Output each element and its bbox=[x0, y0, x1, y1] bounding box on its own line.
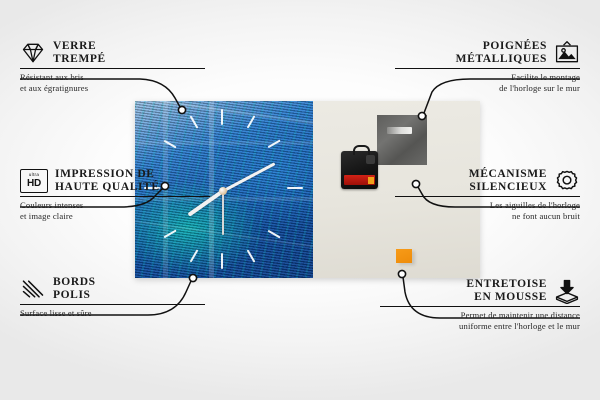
feature-title-line2: SILENCIEUX bbox=[395, 181, 547, 194]
feature-sub-line2: et aux égratignures bbox=[20, 83, 205, 94]
feature-title-line1: MÉCANISME bbox=[395, 168, 547, 181]
feature-title-line2: POLIS bbox=[53, 289, 96, 302]
feature-sub-line1: Couleurs intenses bbox=[20, 200, 210, 211]
metal-hanger-plate bbox=[377, 115, 427, 165]
feature-verre-trempe: VERRE TREMPÉ Résistant aux bris et aux é… bbox=[20, 40, 205, 93]
gear-icon bbox=[554, 168, 580, 194]
feature-poignees-metalliques: POIGNÉES MÉTALLIQUES Facilite le montage… bbox=[395, 40, 580, 93]
mechanism-dial bbox=[366, 155, 375, 164]
feature-title-line1: IMPRESSION DE bbox=[55, 168, 160, 181]
clock-second-hand bbox=[222, 191, 224, 235]
feature-sub-line1: Permet de maintenir une distance bbox=[380, 310, 580, 321]
battery bbox=[344, 175, 375, 185]
ultra-hd-icon: ultra HD bbox=[20, 169, 48, 193]
diamond-icon bbox=[20, 40, 46, 66]
clock-tick bbox=[287, 187, 303, 189]
clock-mechanism bbox=[341, 151, 378, 189]
infographic-canvas: VERRE TREMPÉ Résistant aux bris et aux é… bbox=[0, 0, 600, 400]
feature-title-line1: POIGNÉES bbox=[395, 40, 547, 53]
feature-sub-line2: ne font aucun bruit bbox=[395, 211, 580, 222]
ultra-hd-icon-main: HD bbox=[27, 179, 41, 189]
feature-title-line2: TREMPÉ bbox=[53, 53, 106, 66]
clock-tick bbox=[190, 249, 199, 262]
feature-sub-line2: uniforme entre l'horloge et le mur bbox=[380, 321, 580, 332]
feature-title-line1: VERRE bbox=[53, 40, 106, 53]
clock-tick bbox=[221, 253, 223, 269]
feature-title-line2: MÉTALLIQUES bbox=[395, 53, 547, 66]
clock-tick bbox=[268, 229, 281, 238]
feature-title-line2: EN MOUSSE bbox=[380, 291, 547, 304]
feature-title-line1: ENTRETOISE bbox=[380, 278, 547, 291]
feature-bords-polis: BORDS POLIS Surface lisse et sûre bbox=[20, 276, 205, 319]
feature-sub-line1: Les aiguilles de l'horloge bbox=[395, 200, 580, 211]
feature-sub-line1: Facilite le montage bbox=[395, 72, 580, 83]
clock-center-cap bbox=[219, 187, 227, 195]
feature-entretoise-en-mousse: ENTRETOISE EN MOUSSE Permet de maintenir… bbox=[380, 278, 580, 331]
feature-title-line1: BORDS bbox=[53, 276, 96, 289]
feature-sub-line1: Résistant aux bris bbox=[20, 72, 205, 83]
clock-tick bbox=[247, 249, 256, 262]
foam-spacer-icon bbox=[554, 278, 580, 304]
picture-hanger-icon bbox=[554, 40, 580, 66]
clock-tick bbox=[247, 115, 256, 128]
feature-sub-line2: et image claire bbox=[20, 211, 210, 222]
polished-edges-icon bbox=[20, 276, 46, 302]
feature-title-line2: HAUTE QUALITÉ bbox=[55, 181, 160, 194]
clock-minute-hand bbox=[222, 162, 275, 192]
feature-mecanisme-silencieux: MÉCANISME SILENCIEUX Les aiguilles de l'… bbox=[395, 168, 580, 221]
feature-sub-line1: Surface lisse et sûre bbox=[20, 308, 205, 319]
feature-impression-haute-qualite: ultra HD IMPRESSION DE HAUTE QUALITÉ Cou… bbox=[20, 168, 210, 221]
hanger-slot bbox=[387, 127, 412, 134]
foam-spacer bbox=[396, 249, 412, 263]
feature-sub-line2: de l'horloge sur le mur bbox=[395, 83, 580, 94]
clock-tick bbox=[190, 115, 199, 128]
battery-terminal bbox=[368, 177, 374, 184]
mechanism-hook bbox=[353, 145, 370, 155]
